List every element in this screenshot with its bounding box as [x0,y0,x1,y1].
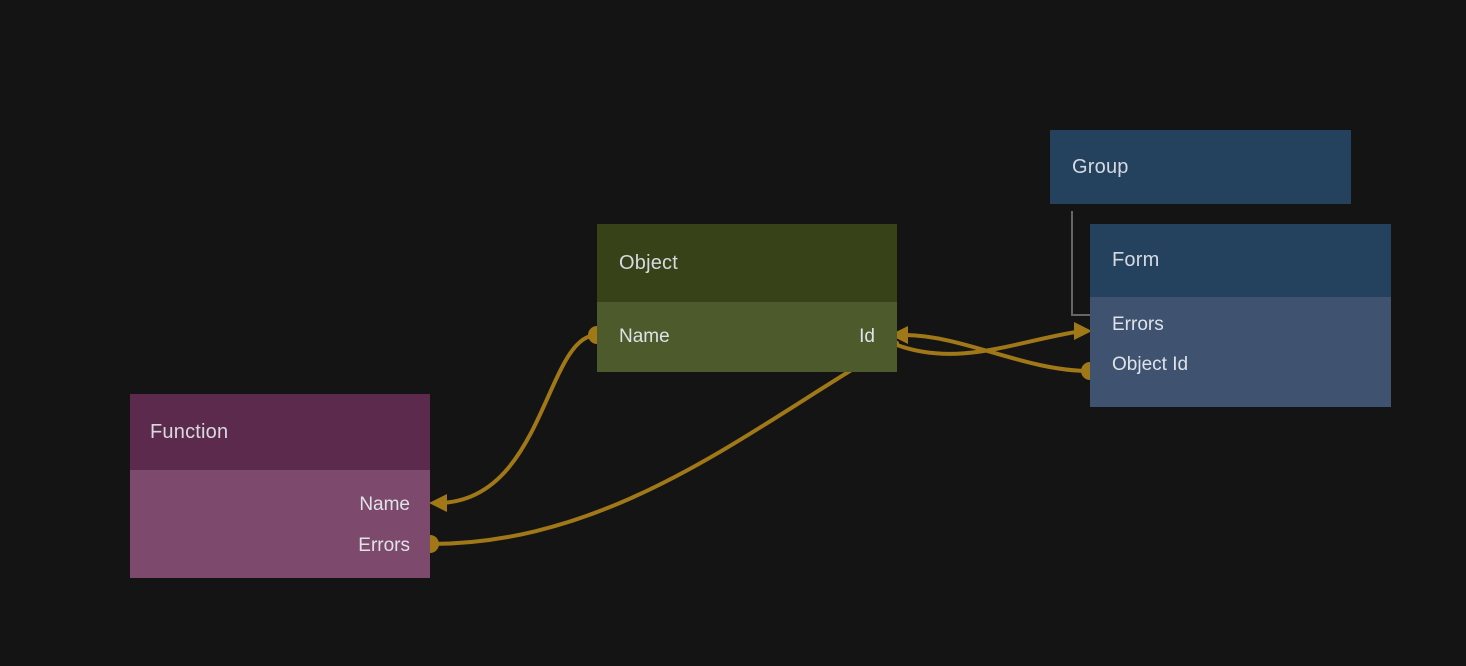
port-label-function-errors[interactable]: Errors [358,535,410,557]
node-form-title: Form [1112,249,1159,272]
port-label-object-id[interactable]: Id [859,326,875,348]
node-object-header[interactable]: Object [597,224,897,302]
port-row-function-errors[interactable]: Errors [150,525,410,566]
port-row-form-errors[interactable]: Errors [1112,305,1369,345]
node-function[interactable]: Function Name Errors [130,394,430,578]
node-group[interactable]: Group [1050,130,1351,204]
node-object-title: Object [619,252,678,275]
node-form-body: Errors Object Id [1090,297,1391,407]
port-label-form-errors[interactable]: Errors [1112,314,1164,336]
port-row-function-name[interactable]: Name [150,484,410,525]
edge-object-id-to-form-errors [897,331,1082,354]
port-row-form-objectid[interactable]: Object Id [1112,345,1369,385]
node-form-header[interactable]: Form [1090,224,1391,297]
port-label-form-objectid[interactable]: Object Id [1112,354,1188,376]
edge-object-name-to-function-name [437,335,597,503]
node-function-header[interactable]: Function [130,394,430,470]
node-object[interactable]: Object Name Id [597,224,897,372]
node-function-body: Name Errors [130,470,430,578]
node-group-header[interactable]: Group [1050,130,1351,204]
port-label-object-name[interactable]: Name [619,326,670,348]
arrowhead-function-name [429,494,447,512]
node-object-body: Name Id [597,302,897,372]
graph-canvas[interactable]: Object Name Id Function Name Errors Grou… [0,0,1466,666]
node-form[interactable]: Form Errors Object Id [1090,224,1391,407]
port-row-object-name-id[interactable]: Name Id [619,320,875,354]
node-function-title: Function [150,421,228,444]
edge-function-errors-to-object-id [430,343,897,544]
edge-form-objectid-to-object-id [906,335,1090,371]
port-label-function-name[interactable]: Name [359,494,410,516]
node-group-title: Group [1072,156,1129,179]
